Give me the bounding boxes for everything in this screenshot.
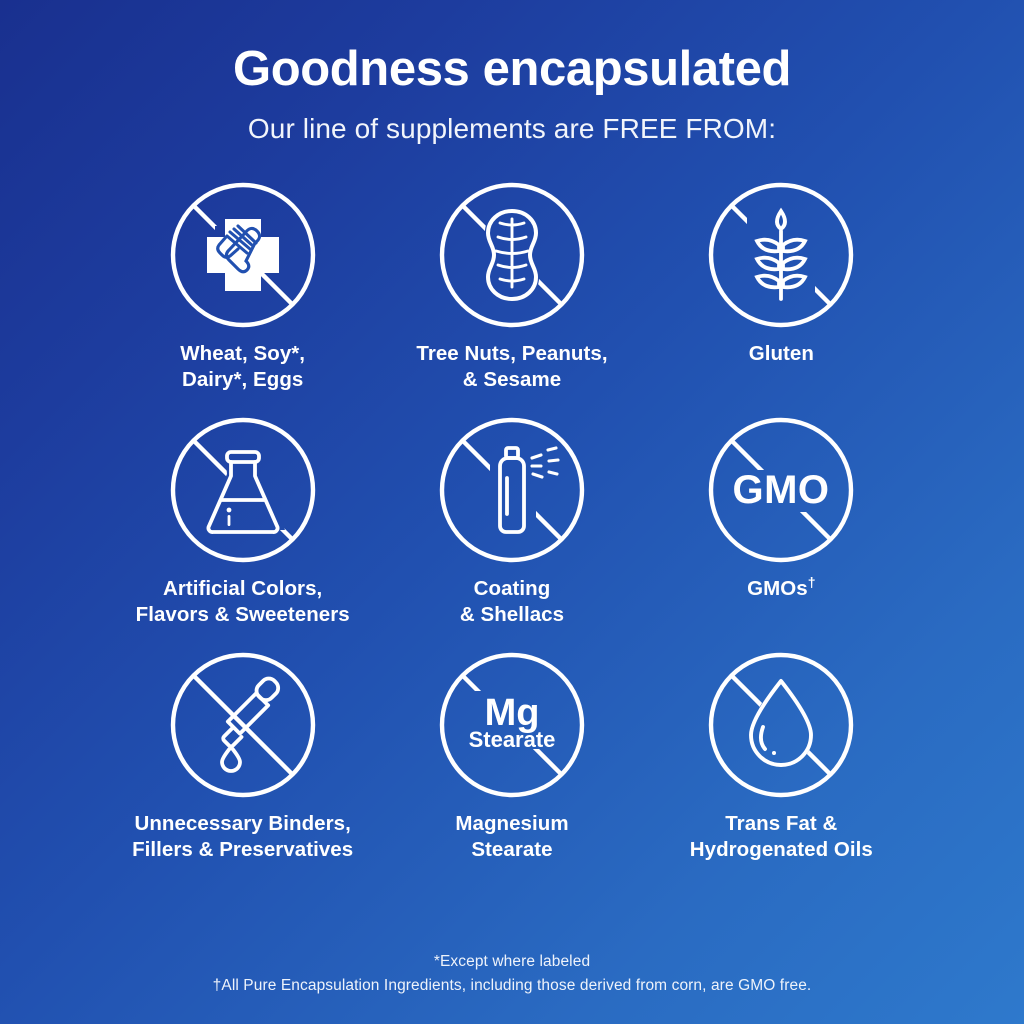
free-from-grid: Wheat, Soy*, Dairy*, Eggs — [0, 179, 1024, 884]
footnote-asterisk: *Except where labeled — [0, 950, 1024, 974]
grid-item-label: Trans Fat & Hydrogenated Oils — [690, 811, 873, 863]
footnotes: *Except where labeled †All Pure Encapsul… — [0, 950, 1024, 998]
gmo-label-text: GMOs — [747, 577, 808, 600]
grid-item-label: Wheat, Soy*, Dairy*, Eggs — [180, 341, 305, 393]
grid-item-binders: Unnecessary Binders, Fillers & Preservat… — [108, 649, 377, 884]
infographic-page: Goodness encapsulated Our line of supple… — [0, 0, 1024, 1024]
grid-item-label: Magnesium Stearate — [455, 811, 568, 863]
gmo-icon-text: GMO — [733, 468, 830, 512]
no-spray-can-coating-icon — [436, 414, 588, 566]
grid-item-label: Tree Nuts, Peanuts, & Sesame — [416, 341, 607, 393]
grid-item-nuts: Tree Nuts, Peanuts, & Sesame — [377, 179, 646, 414]
no-magnesium-stearate-icon: Mg Stearate — [436, 649, 588, 801]
stearate-icon-text: Stearate — [469, 727, 556, 752]
grid-item-coating: Coating & Shellacs — [377, 414, 646, 649]
gmo-dagger: † — [808, 574, 816, 590]
header: Goodness encapsulated Our line of supple… — [0, 0, 1024, 145]
grid-item-label: GMOs† — [747, 576, 815, 602]
grid-item-magnesium-stearate: Mg Stearate Magnesium Stearate — [377, 649, 646, 884]
grid-item-label: Coating & Shellacs — [460, 576, 564, 628]
grid-item-label: Gluten — [749, 341, 814, 367]
no-flask-artificial-colors-icon — [167, 414, 319, 566]
grid-item-label: Artificial Colors, Flavors & Sweeteners — [136, 576, 350, 628]
footnote-dagger: †All Pure Encapsulation Ingredients, inc… — [0, 974, 1024, 998]
no-gmo-icon: GMO — [705, 414, 857, 566]
no-wheat-soy-dairy-eggs-icon — [167, 179, 319, 331]
grid-item-artificial-colors: Artificial Colors, Flavors & Sweeteners — [108, 414, 377, 649]
grid-item-allergens: Wheat, Soy*, Dairy*, Eggs — [108, 179, 377, 414]
grid-item-gmo: GMO GMOs† — [647, 414, 916, 649]
page-subtitle: Our line of supplements are FREE FROM: — [0, 113, 1024, 145]
no-peanut-icon — [436, 179, 588, 331]
grid-item-gluten: Gluten — [647, 179, 916, 414]
page-title: Goodness encapsulated — [0, 44, 1024, 96]
no-gluten-wheat-stalk-icon — [705, 179, 857, 331]
no-dropper-binders-icon — [167, 649, 319, 801]
grid-item-trans-fat: Trans Fat & Hydrogenated Oils — [647, 649, 916, 884]
grid-item-label: Unnecessary Binders, Fillers & Preservat… — [132, 811, 353, 863]
no-oil-droplet-icon — [705, 649, 857, 801]
